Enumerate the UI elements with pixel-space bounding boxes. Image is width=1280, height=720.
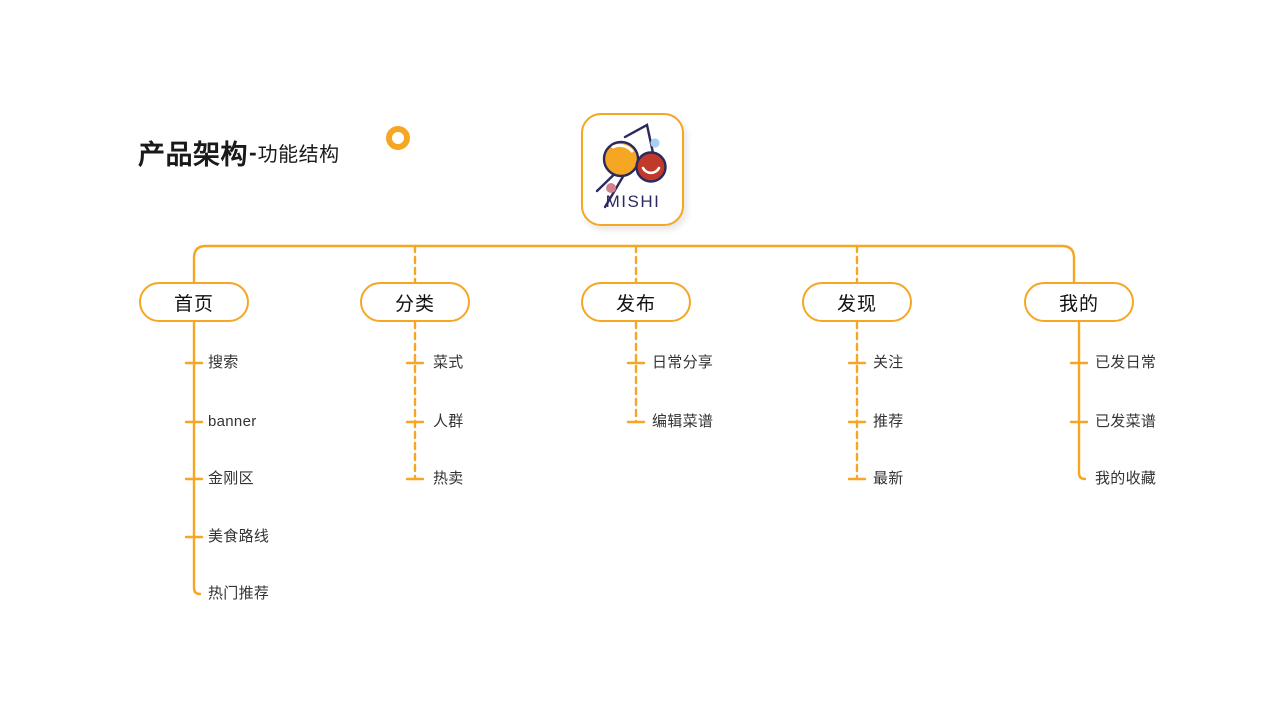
spine-home	[194, 322, 200, 594]
candy-red-icon	[637, 153, 666, 182]
leaf-mine-1[interactable]: 已发日常	[1095, 354, 1156, 372]
node-discover-label: 发现	[837, 289, 877, 316]
diagram-canvas: 产品架构 - 功能结构 MISHI	[0, 0, 1280, 720]
page-title-separator: -	[248, 139, 258, 166]
leaf-category-1[interactable]: 菜式	[433, 354, 464, 372]
leaf-category-3[interactable]: 热卖	[433, 470, 464, 488]
leaf-home-5[interactable]: 热门推荐	[208, 585, 269, 603]
node-publish[interactable]: 发布	[581, 282, 691, 322]
node-publish-label: 发布	[616, 289, 656, 316]
leaf-mine-3[interactable]: 我的收藏	[1095, 470, 1156, 488]
leaf-category-2[interactable]: 人群	[433, 413, 464, 431]
leaf-discover-2[interactable]: 推荐	[873, 413, 904, 431]
node-home[interactable]: 首页	[139, 282, 249, 322]
leaf-mine-2[interactable]: 已发菜谱	[1095, 413, 1156, 431]
leaf-discover-3[interactable]: 最新	[873, 470, 904, 488]
page-title-sub: 功能结构	[258, 138, 340, 167]
leaf-home-1[interactable]: 搜索	[208, 354, 239, 372]
leaf-home-4[interactable]: 美食路线	[208, 528, 269, 546]
leaf-publish-1[interactable]: 日常分享	[652, 354, 713, 372]
page-title-main: 产品架构	[138, 133, 248, 172]
bus-bar	[194, 246, 1074, 282]
leaf-publish-2[interactable]: 编辑菜谱	[652, 413, 713, 431]
spine-mine	[1079, 322, 1085, 479]
node-category[interactable]: 分类	[360, 282, 470, 322]
leaf-home-2[interactable]: banner	[208, 413, 257, 431]
logo-wordmark: MISHI	[606, 192, 661, 211]
leaf-discover-1[interactable]: 关注	[873, 354, 904, 372]
node-mine[interactable]: 我的	[1024, 282, 1134, 322]
node-discover[interactable]: 发现	[802, 282, 912, 322]
leaf-home-3[interactable]: 金刚区	[208, 470, 254, 488]
node-mine-label: 我的	[1059, 289, 1099, 316]
node-category-label: 分类	[395, 289, 435, 316]
candy-orange-icon	[604, 142, 638, 176]
dot-blue-icon	[650, 138, 659, 147]
node-home-label: 首页	[174, 289, 214, 316]
app-logo: MISHI	[581, 113, 684, 226]
ring-icon	[386, 126, 410, 150]
connector-lines	[0, 0, 1280, 720]
app-logo-artwork: MISHI	[583, 115, 682, 224]
page-title: 产品架构 - 功能结构	[138, 132, 340, 172]
